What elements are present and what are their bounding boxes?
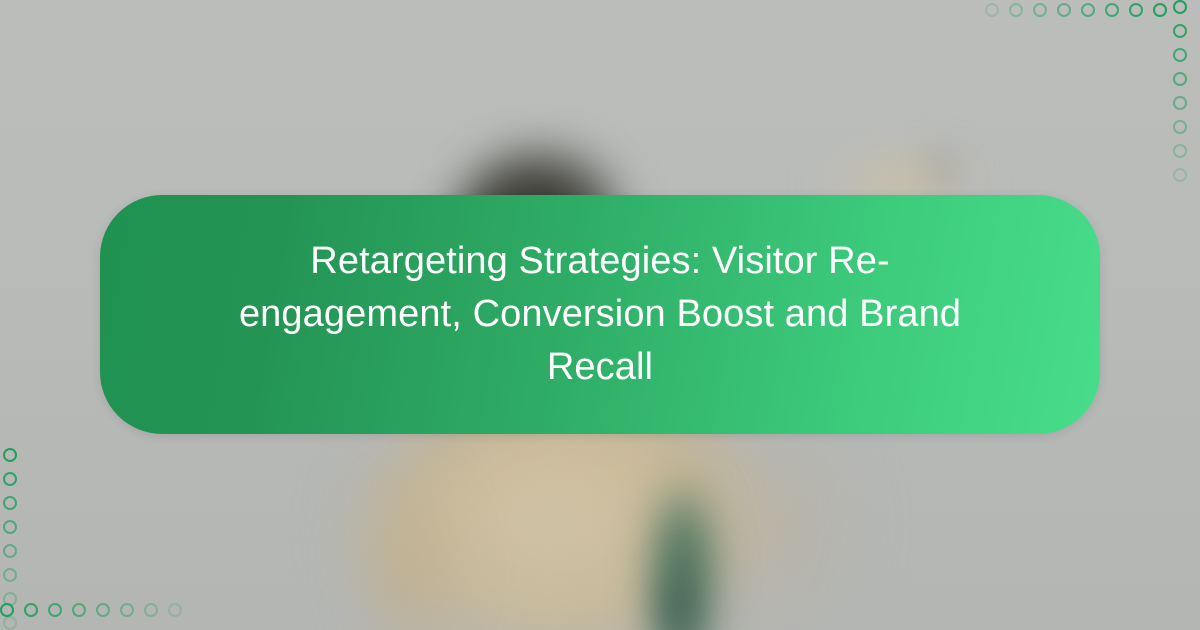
decorative-ring	[3, 544, 17, 558]
decorative-ring	[1173, 168, 1187, 182]
decorative-ring	[3, 496, 17, 510]
decorative-ring	[1033, 3, 1047, 17]
decorative-ring	[1173, 96, 1187, 110]
decorative-ring	[168, 603, 182, 617]
decorative-ring	[1009, 3, 1023, 17]
decorative-ring	[144, 603, 158, 617]
page-title-line-2: Conversion Boost and Brand Recall	[473, 293, 961, 388]
decorative-ring	[1173, 0, 1187, 14]
decorative-ring	[48, 603, 62, 617]
dot-cluster-right	[1170, 0, 1200, 210]
title-card: Retargeting Strategies: Visitor Re-engag…	[100, 195, 1100, 434]
decorative-ring	[3, 616, 17, 630]
dot-cluster-left	[0, 420, 30, 630]
dot-cluster-top-right	[985, 0, 1200, 20]
decorative-ring	[1129, 3, 1143, 17]
decorative-ring	[3, 592, 17, 606]
decorative-ring	[72, 603, 86, 617]
decorative-ring	[1057, 3, 1071, 17]
decorative-ring	[3, 472, 17, 486]
page-title: Retargeting Strategies: Visitor Re-engag…	[147, 235, 1053, 394]
decorative-ring	[1173, 48, 1187, 62]
decorative-ring	[1173, 24, 1187, 38]
decorative-ring	[1173, 144, 1187, 158]
decorative-ring	[985, 3, 999, 17]
decorative-ring	[3, 520, 17, 534]
social-card-canvas: Retargeting Strategies: Visitor Re-engag…	[0, 0, 1200, 630]
decorative-ring	[1173, 120, 1187, 134]
decorative-ring	[1081, 3, 1095, 17]
decorative-ring	[120, 603, 134, 617]
decorative-ring	[1153, 3, 1167, 17]
decorative-ring	[1173, 72, 1187, 86]
dot-cluster-bottom-left	[0, 600, 215, 630]
decorative-ring	[1105, 3, 1119, 17]
decorative-ring	[3, 568, 17, 582]
decorative-ring	[96, 603, 110, 617]
decorative-ring	[3, 448, 17, 462]
